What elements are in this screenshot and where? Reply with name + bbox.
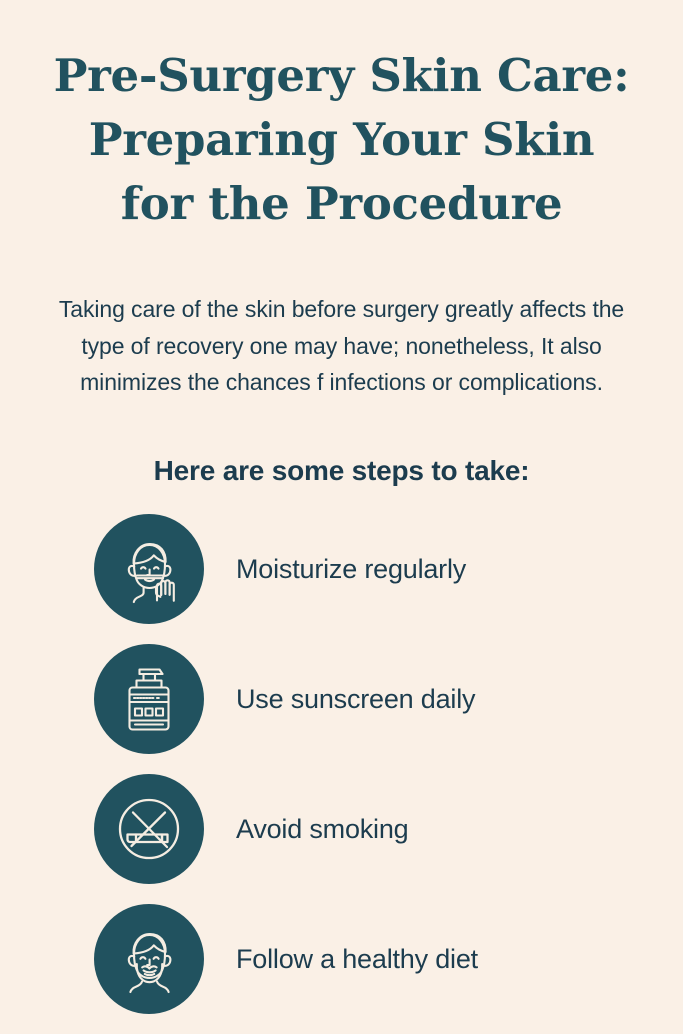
page-title: Pre-Surgery Skin Care: Preparing Your Sk… — [0, 44, 683, 236]
title-line-3: for the Procedure — [0, 172, 683, 236]
title-line-1: Pre-Surgery Skin Care: — [0, 44, 683, 108]
sunscreen-pump-bottle-icon — [94, 644, 204, 754]
no-smoking-icon — [94, 774, 204, 884]
steps-list: Moisturize regularly — [0, 514, 683, 1034]
steps-subheading: Here are some steps to take: — [0, 452, 683, 490]
list-item: Moisturize regularly — [0, 514, 683, 624]
infographic-poster: Pre-Surgery Skin Care: Preparing Your Sk… — [0, 0, 683, 1024]
step-label: Moisturize regularly — [236, 514, 466, 624]
step-label: Use sunscreen daily — [236, 644, 475, 754]
step-label: Avoid smoking — [236, 774, 409, 884]
face-applying-cream-icon — [94, 514, 204, 624]
list-item: Avoid smoking — [0, 774, 683, 884]
step-label: Follow a healthy diet — [236, 904, 478, 1014]
title-line-2: Preparing Your Skin — [0, 108, 683, 172]
list-item: Use sunscreen daily — [0, 644, 683, 754]
intro-paragraph: Taking care of the skin before surgery g… — [52, 291, 631, 401]
list-item: Follow a healthy diet — [0, 904, 683, 1014]
bearded-face-smiling-icon — [94, 904, 204, 1014]
